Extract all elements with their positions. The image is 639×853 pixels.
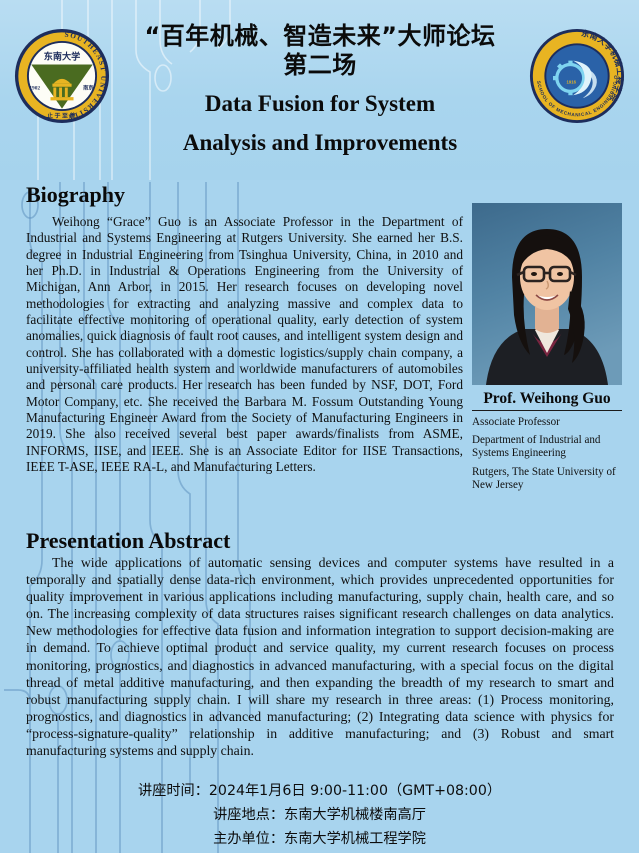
- speaker-name: Prof. Weihong Guo: [472, 389, 622, 408]
- svg-text:止于至善: 止于至善: [47, 111, 77, 119]
- speaker-block: Prof. Weihong Guo Associate Professor De…: [472, 203, 622, 497]
- speaker-affiliation: Associate Professor Department of Indust…: [472, 416, 622, 492]
- speaker-name-rule: [472, 410, 622, 411]
- svg-text:1916: 1916: [567, 80, 577, 85]
- biography-text: Weihong “Grace” Guo is an Associate Prof…: [26, 214, 463, 476]
- abstract-heading: Presentation Abstract: [26, 528, 230, 554]
- affiliation-line-1: Associate Professor: [472, 416, 622, 429]
- biography-heading: Biography: [26, 182, 125, 208]
- lecture-location: 讲座地点：东南大学机械楼南高厅: [0, 803, 639, 827]
- abstract-text: The wide applications of automatic sensi…: [26, 554, 614, 759]
- poster-footer: 讲座时间：2024年1月6日 9:00-11:00（GMT+08:00） 讲座地…: [0, 779, 639, 852]
- speaker-photo: [472, 203, 622, 385]
- title-english-line1: Data Fusion for System: [120, 89, 520, 119]
- lecture-host: 主办单位：东南大学机械工程学院: [0, 827, 639, 851]
- svg-text:东南大学: 东南大学: [44, 51, 80, 63]
- title-english-line2: Analysis and Improvements: [120, 128, 520, 158]
- affiliation-line-2: Department of Industrial and Systems Eng…: [472, 434, 622, 460]
- svg-text:南京: 南京: [83, 83, 93, 91]
- seminar-poster: SOUTHEAST UNIVERSITY 东南大学 1902 南京 止于至善: [0, 0, 639, 853]
- school-of-mechanical-engineering-logo: 东南大学机械工程学院 SCHOOL OF MECHANICAL ENGINEER…: [529, 28, 625, 124]
- poster-title: “百年机械、智造未来”大师论坛 第二场 Data Fusion for Syst…: [120, 22, 520, 158]
- lecture-time: 讲座时间：2024年1月6日 9:00-11:00（GMT+08:00）: [0, 779, 639, 803]
- title-chinese-line1: “百年机械、智造未来”大师论坛: [120, 22, 520, 51]
- title-chinese-line2: 第二场: [120, 51, 520, 80]
- affiliation-line-3: Rutgers, The State University of New Jer…: [472, 466, 622, 492]
- svg-text:1902: 1902: [29, 85, 40, 91]
- poster-header: SOUTHEAST UNIVERSITY 东南大学 1902 南京 止于至善: [0, 0, 639, 182]
- southeast-university-logo: SOUTHEAST UNIVERSITY 东南大学 1902 南京 止于至善: [14, 28, 110, 124]
